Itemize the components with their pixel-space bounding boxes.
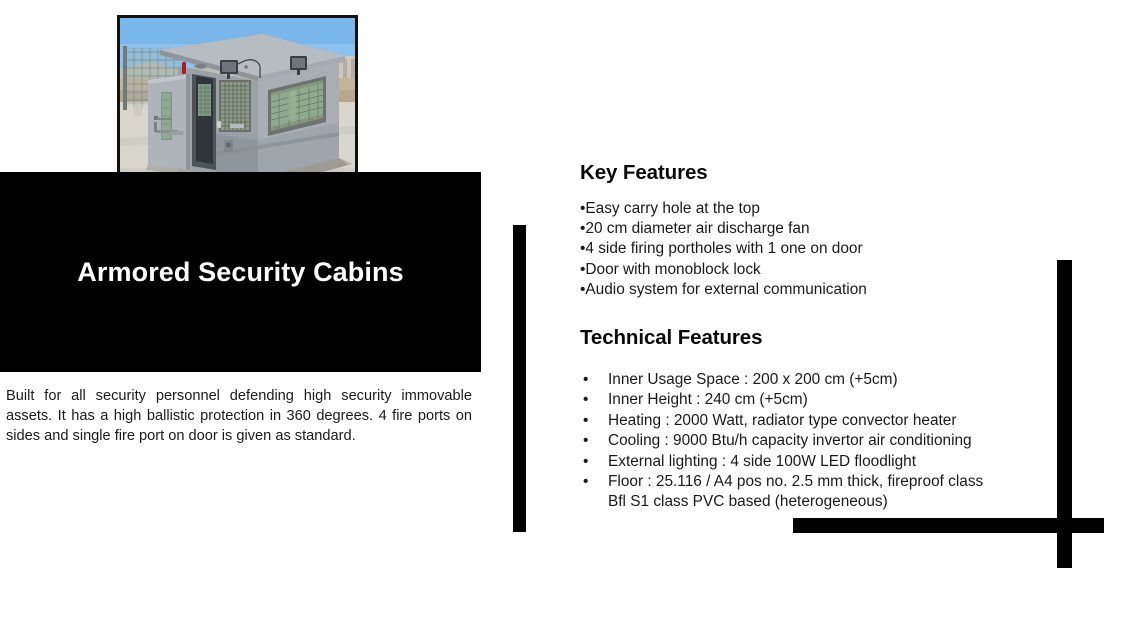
bullet-glyph: • xyxy=(583,452,588,472)
list-item-label-continued: Bfl S1 class PVC based (heterogeneous) xyxy=(608,492,1040,512)
list-item-label: Inner Usage Space : 200 x 200 cm (+5cm) xyxy=(608,371,898,388)
list-item: •4 side firing portholes with 1 one on d… xyxy=(580,239,867,259)
list-item: •Inner Usage Space : 200 x 200 cm (+5cm) xyxy=(580,370,1040,390)
list-item-label: Floor : 25.116 / A4 pos no. 2.5 mm thick… xyxy=(608,473,983,490)
list-item: •Heating : 2000 Watt, radiator type conv… xyxy=(580,411,1040,431)
bullet-glyph: • xyxy=(583,390,588,410)
page-title: Armored Security Cabins xyxy=(0,258,481,288)
list-item-label: 4 side firing portholes with 1 one on do… xyxy=(585,240,862,257)
slide-canvas: Armored Security Cabins Built for all se… xyxy=(0,0,1139,636)
list-item: •Audio system for external communication xyxy=(580,280,867,300)
list-item-label: 20 cm diameter air discharge fan xyxy=(585,220,809,237)
list-item-label: Heating : 2000 Watt, radiator type conve… xyxy=(608,412,956,429)
divider-bar-vertical xyxy=(513,225,526,532)
key-features-list: •Easy carry hole at the top •20 cm diame… xyxy=(580,199,867,300)
technical-features-heading: Technical Features xyxy=(580,326,762,350)
list-item: •20 cm diameter air discharge fan xyxy=(580,219,867,239)
list-item-label: Audio system for external communication xyxy=(585,281,866,298)
technical-features-list: •Inner Usage Space : 200 x 200 cm (+5cm)… xyxy=(580,370,1040,513)
list-item: •Floor : 25.116 / A4 pos no. 2.5 mm thic… xyxy=(580,472,1040,513)
list-item: •Door with monoblock lock xyxy=(580,260,867,280)
bullet-glyph: • xyxy=(583,431,588,451)
bullet-glyph: • xyxy=(583,370,588,390)
list-item: •Cooling : 9000 Btu/h capacity invertor … xyxy=(580,431,1040,451)
list-item: •Inner Height : 240 cm (+5cm) xyxy=(580,390,1040,410)
bullet-glyph: • xyxy=(583,411,588,431)
list-item-label: Cooling : 9000 Btu/h capacity invertor a… xyxy=(608,432,972,449)
list-item-label: External lighting : 4 side 100W LED floo… xyxy=(608,453,916,470)
list-item-label: Inner Height : 240 cm (+5cm) xyxy=(608,391,808,408)
key-features-heading: Key Features xyxy=(580,161,708,185)
list-item-label: Door with monoblock lock xyxy=(585,261,760,278)
list-item-label: Easy carry hole at the top xyxy=(585,200,760,217)
bullet-glyph: • xyxy=(583,472,588,492)
list-item: •External lighting : 4 side 100W LED flo… xyxy=(580,452,1040,472)
list-item: •Easy carry hole at the top xyxy=(580,199,867,219)
description-paragraph: Built for all security personnel defendi… xyxy=(6,386,472,446)
cross-accent-horizontal xyxy=(793,518,1104,533)
